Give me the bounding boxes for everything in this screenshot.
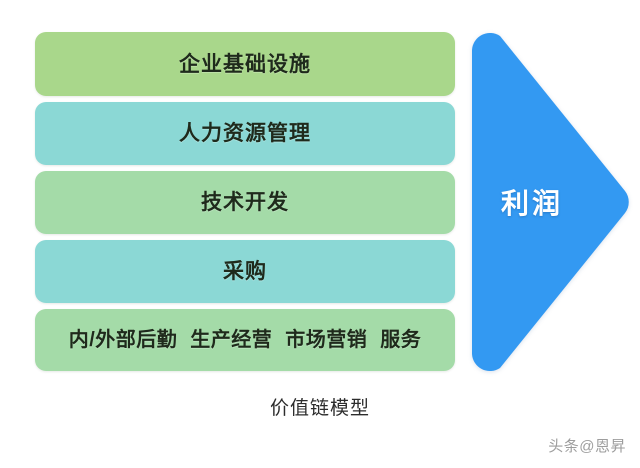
activity-bar-primary-activities: 内/外部后勤 生产经营 市场营销 服务 <box>35 309 455 371</box>
activity-bar-enterprise-infrastructure: 企业基础设施 <box>35 32 455 96</box>
right-arrow-icon <box>466 28 636 376</box>
activity-bar-technology-development: 技术开发 <box>35 171 455 234</box>
activity-bar-label: 采购 <box>223 261 267 282</box>
activity-bar-procurement: 采购 <box>35 240 455 303</box>
activity-bar-human-resource-management: 人力资源管理 <box>35 102 455 165</box>
primary-activity-inbound-outbound-logistics: 内/外部后勤 <box>69 330 178 350</box>
primary-activity-service: 服务 <box>380 330 421 350</box>
activity-bar-label: 企业基础设施 <box>179 54 311 75</box>
watermark: 头条@恩昇 <box>548 435 626 456</box>
value-chain-diagram: 企业基础设施 人力资源管理 技术开发 采购 内/外部后勤 生产经营 市场营销 服… <box>0 0 640 468</box>
primary-activity-marketing-sales: 市场营销 <box>285 330 367 350</box>
primary-activities-row: 内/外部后勤 生产经营 市场营销 服务 <box>69 330 422 350</box>
activity-bar-label: 技术开发 <box>201 192 289 213</box>
activity-bars-column: 企业基础设施 人力资源管理 技术开发 采购 内/外部后勤 生产经营 市场营销 服… <box>35 32 455 372</box>
activity-bar-label: 人力资源管理 <box>179 123 311 144</box>
primary-activity-operations: 生产经营 <box>190 330 272 350</box>
diagram-caption: 价值链模型 <box>0 393 640 420</box>
profit-arrow: 利润 <box>466 28 636 376</box>
